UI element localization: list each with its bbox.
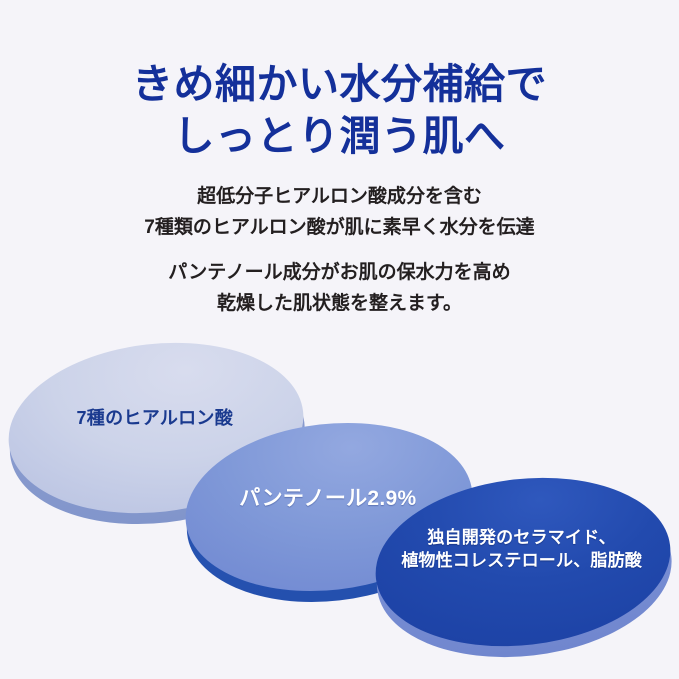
disc-ceramide-label-line-2: 植物性コレステロール、脂肪酸 xyxy=(374,550,670,573)
ingredient-disc-diagram: 7種のヒアルロン酸 パンテノール2.9% 独自開発のセラマイド、 植物性コレステ… xyxy=(0,0,679,679)
disc-ceramide-label: 独自開発のセラマイド、 植物性コレステロール、脂肪酸 xyxy=(374,527,670,572)
poster-canvas: きめ細かい水分補給で しっとり潤う肌へ 超低分子ヒアルロン酸成分を含む 7種類の… xyxy=(0,0,679,679)
disc-ceramide: 独自開発のセラマイド、 植物性コレステロール、脂肪酸 xyxy=(367,463,679,661)
disc-ceramide-label-line-1: 独自開発のセラマイド、 xyxy=(374,527,670,550)
disc-hyaluronic-acid-label: 7種のヒアルロン酸 xyxy=(7,404,303,430)
